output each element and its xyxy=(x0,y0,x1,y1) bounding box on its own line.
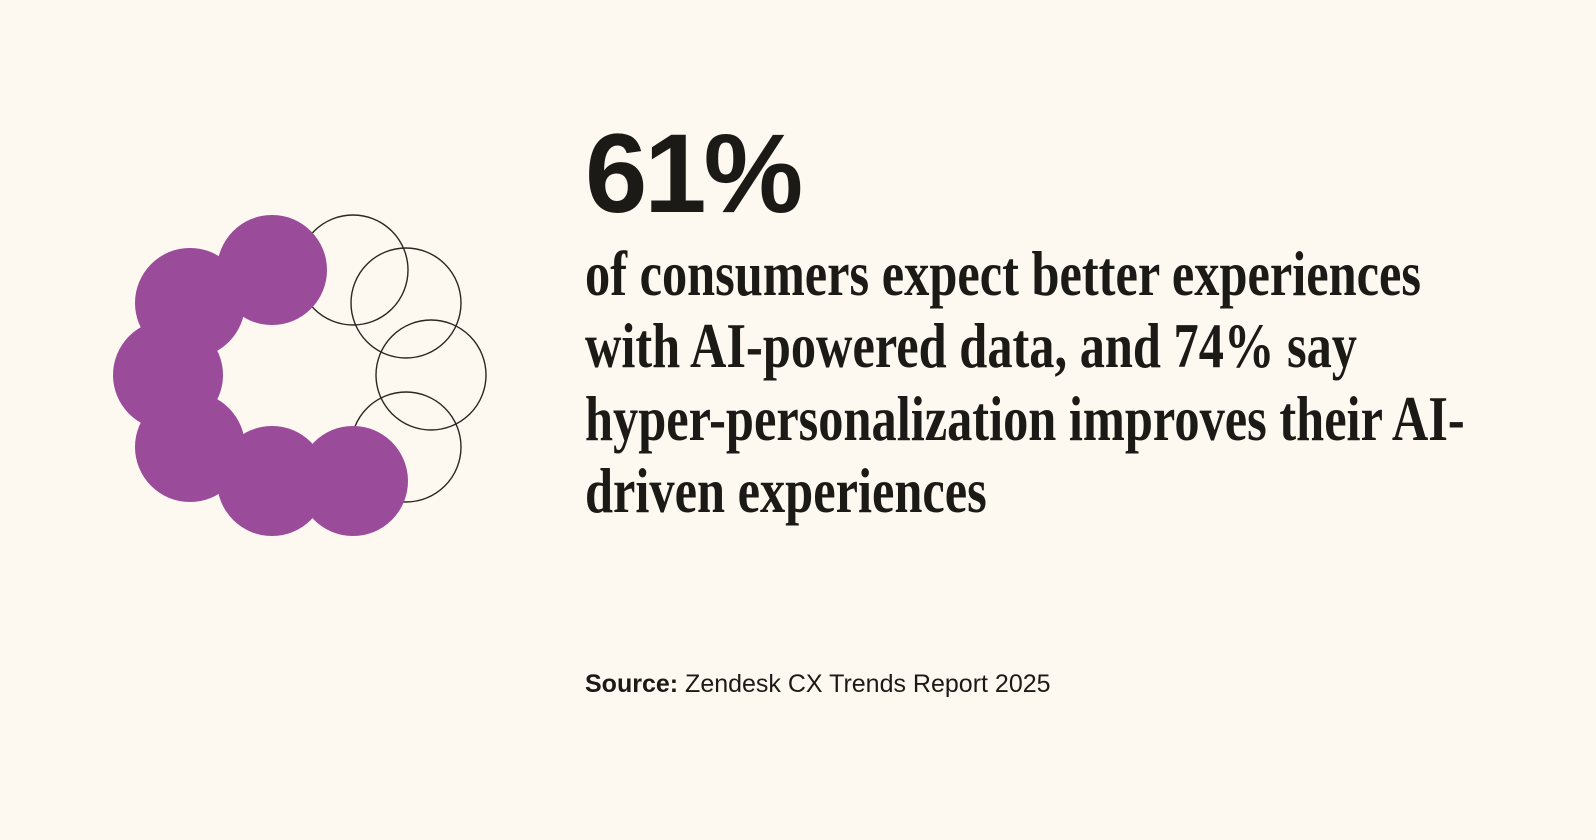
source-value: Zendesk CX Trends Report 2025 xyxy=(685,670,1050,698)
ring-filled-segments xyxy=(113,215,408,536)
stat-figure: 61% xyxy=(585,118,1485,238)
stat-text-block: 61% of consumers expect better experienc… xyxy=(585,118,1485,528)
source-label: Source: xyxy=(585,670,678,698)
source-attribution: Source: Zendesk CX Trends Report 2025 xyxy=(585,668,1051,701)
ring-segment-9 xyxy=(351,248,461,358)
stat-description: of consumers expect better experiences w… xyxy=(585,238,1485,528)
circle-ring-graphic xyxy=(110,175,510,575)
ring-segment-6 xyxy=(298,426,408,536)
stat-card: 61% of consumers expect better experienc… xyxy=(0,0,1596,840)
ring-segment-8 xyxy=(376,320,486,430)
